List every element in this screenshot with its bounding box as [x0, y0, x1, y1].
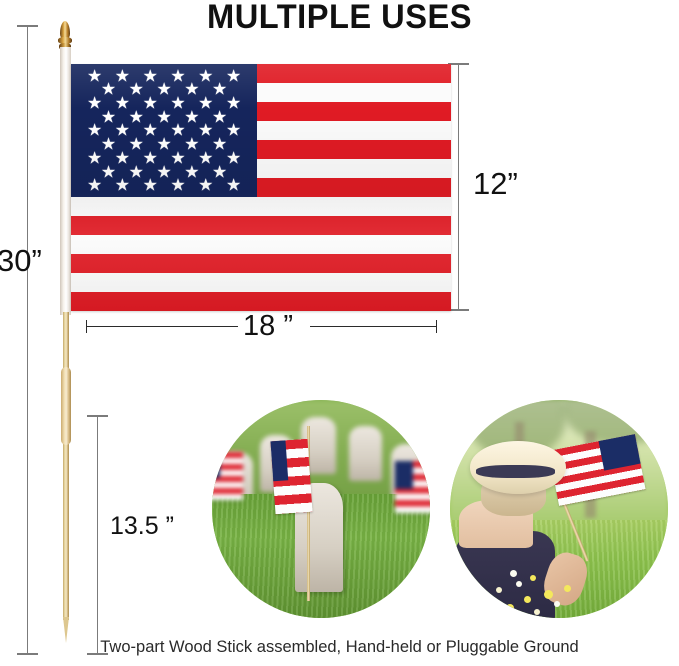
- dimension-cap-left: [86, 320, 87, 333]
- planted-flag: [277, 426, 342, 600]
- flag-star: ★: [226, 149, 241, 166]
- dimension-cap-right: [436, 320, 437, 333]
- wildflower-bloom: [484, 598, 491, 605]
- dimension-cap-top: [87, 415, 108, 417]
- dimension-cap-bottom: [448, 309, 469, 311]
- flag-star: ★: [226, 95, 241, 112]
- wildflower-bloom: [564, 585, 571, 592]
- flag-stripe: [71, 235, 451, 254]
- planted-flag-canton: [212, 452, 220, 478]
- dimension-cap-top: [17, 25, 38, 27]
- wildflower-bloom: [530, 575, 536, 581]
- wildflower-bloom: [490, 611, 496, 617]
- handheld-flag: [563, 439, 668, 561]
- wildflower-bloom: [554, 601, 560, 607]
- flag-stripe: [71, 273, 451, 292]
- flag-pole-upper: [60, 47, 71, 315]
- planted-flag-cloth: [271, 439, 313, 515]
- flag-stripe: [71, 292, 451, 311]
- flag-star: ★: [226, 177, 241, 194]
- flag-canton: ★★★★★★★★★★★★★★★★★★★★★★★★★★★★★★★★★★★★★★★★…: [71, 64, 257, 197]
- dimension-label-flag-height: 12”: [473, 166, 518, 202]
- dimension-label-flag-width: 18 ”: [243, 310, 293, 343]
- flag-star: ★: [198, 177, 213, 194]
- american-flag: ★★★★★★★★★★★★★★★★★★★★★★★★★★★★★★★★★★★★★★★★…: [71, 64, 451, 311]
- flag-star: ★: [226, 67, 241, 84]
- planted-flag-cloth: [395, 461, 430, 513]
- dimension-line-flag-height: [458, 63, 459, 311]
- dimension-line-flag-width-left: [86, 326, 238, 327]
- flag-star: ★: [143, 177, 158, 194]
- flag-star: ★: [170, 177, 185, 194]
- dimension-line-flag-width-right: [310, 326, 437, 327]
- dimension-line-stick-length: [97, 415, 98, 655]
- headstone-blurred: [349, 426, 382, 481]
- planted-flag-canton: [395, 461, 413, 489]
- photo-woman-with-flag: [450, 400, 668, 618]
- wildflower-bloom: [506, 604, 514, 612]
- flag-star: ★: [115, 177, 130, 194]
- flag-stripe: [71, 216, 451, 235]
- wildflower-bloom: [510, 570, 517, 577]
- dimension-line-total-height: [27, 25, 28, 655]
- handheld-flag-canton: [598, 434, 640, 471]
- planted-flag-blurred: [395, 461, 430, 513]
- flag-star: ★: [226, 122, 241, 139]
- planted-flag-canton: [271, 440, 289, 481]
- flag-stripe: [71, 197, 451, 216]
- wildflowers: [476, 566, 576, 618]
- wood-stick-lower: [62, 312, 70, 642]
- planted-flag-blurred: [212, 452, 243, 500]
- wildflower-bloom: [534, 609, 540, 615]
- caption-text: Two-part Wood Stick assembled, Hand-held…: [0, 638, 679, 657]
- dimension-label-stick-length: 13.5 ”: [110, 512, 174, 541]
- wood-stick-shaft: [63, 312, 69, 620]
- planted-flag-cloth: [212, 452, 243, 500]
- wildflower-bloom: [516, 581, 522, 587]
- wildflower-bloom: [544, 590, 553, 599]
- flag-star: ★: [87, 177, 102, 194]
- product-infographic: MULTIPLE USES 30” 12” 18 ” 13.5 ” ★★★★★★…: [0, 0, 679, 666]
- page-title: MULTIPLE USES: [14, 0, 666, 37]
- dimension-label-total-height: 30”: [0, 243, 42, 279]
- woman-hat-band: [476, 465, 554, 478]
- photo-cemetery: [212, 400, 430, 618]
- wildflower-bloom: [524, 596, 531, 603]
- flag-stripe: [71, 254, 451, 273]
- dimension-cap-top: [448, 63, 469, 65]
- wildflower-bloom: [496, 587, 502, 593]
- wood-stick-joint: [61, 367, 71, 445]
